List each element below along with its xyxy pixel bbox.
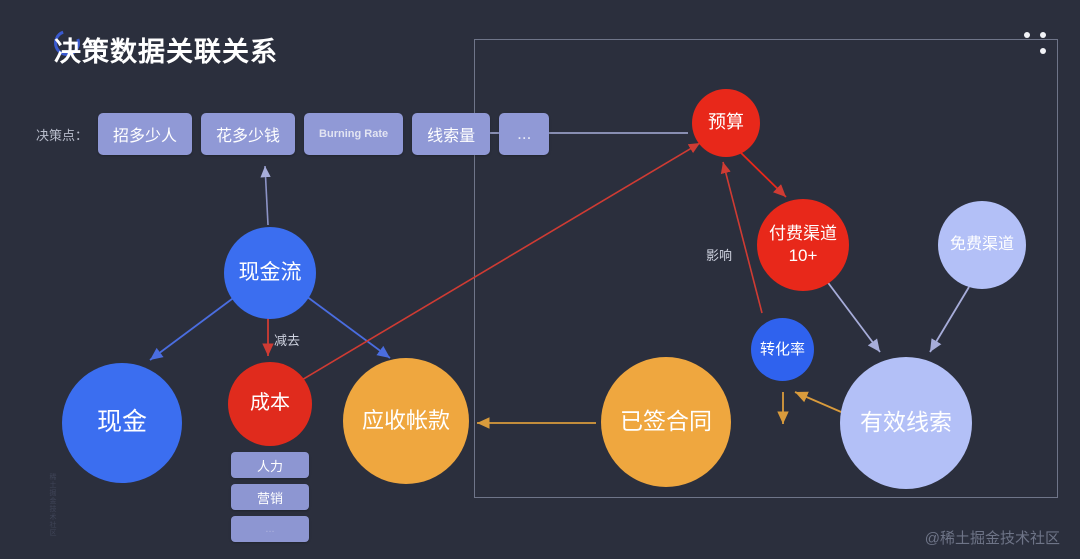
page-title: 决策数据关联关系 xyxy=(46,26,270,65)
decision-chip-burning-rate[interactable]: Burning Rate xyxy=(304,113,403,155)
decision-chip-spending[interactable]: 花多少钱 xyxy=(201,113,295,155)
node-receivable-label: 应收帐款 xyxy=(362,408,450,434)
page-title-text: 决策数据关联关系 xyxy=(54,37,278,67)
cost-chip-more[interactable]: ... xyxy=(231,516,309,542)
node-cashflow-label: 现金流 xyxy=(239,261,302,286)
node-cash[interactable]: 现金 xyxy=(62,363,182,483)
decision-points-row: 决策点： 招多少人 花多少钱 Burning Rate 线索量 ... xyxy=(36,113,549,155)
node-signed-contract-label: 已签合同 xyxy=(620,408,712,435)
node-cost-label: 成本 xyxy=(250,392,290,416)
cost-chip-marketing[interactable]: 营销 xyxy=(231,484,309,510)
cost-breakdown-list: 人力 营销 ... xyxy=(231,452,309,542)
node-receivable[interactable]: 应收帐款 xyxy=(343,358,469,484)
decision-points-label: 决策点： xyxy=(36,125,88,144)
node-paid-channel-label: 付费渠道 xyxy=(769,224,837,244)
node-valid-leads[interactable]: 有效线索 xyxy=(840,357,972,489)
cost-chip-manpower[interactable]: 人力 xyxy=(231,452,309,478)
edge-label-subtract: 减去 xyxy=(274,330,300,349)
node-free-channel-label: 免费渠道 xyxy=(950,236,1014,255)
decision-chip-lead-volume[interactable]: 线索量 xyxy=(412,113,490,155)
node-paid-channel-count: 10+ xyxy=(789,246,818,266)
node-valid-leads-label: 有效线索 xyxy=(860,409,952,436)
decision-chip-hiring[interactable]: 招多少人 xyxy=(98,113,192,155)
node-paid-channel[interactable]: 付费渠道 10+ xyxy=(757,199,849,291)
watermark: @稀土掘金技术社区 xyxy=(925,527,1060,548)
node-budget-label: 预算 xyxy=(708,112,744,133)
decision-chip-more[interactable]: ... xyxy=(499,113,549,155)
node-free-channel[interactable]: 免费渠道 xyxy=(938,201,1026,289)
node-budget[interactable]: 预算 xyxy=(692,89,760,157)
node-cost[interactable]: 成本 xyxy=(228,362,312,446)
menu-dots-icon[interactable] xyxy=(1024,24,1058,58)
node-conversion-rate[interactable]: 转化率 xyxy=(751,318,814,381)
edge-label-influence: 影响 xyxy=(706,245,732,264)
side-watermark: 稀土掘金技术社区 xyxy=(47,473,57,537)
node-signed-contract[interactable]: 已签合同 xyxy=(601,357,731,487)
node-cashflow[interactable]: 现金流 xyxy=(224,227,316,319)
node-conversion-rate-label: 转化率 xyxy=(760,341,805,359)
diagram-canvas: 决策数据关联关系 决策点： 招多少人 花多少钱 Burning Rate 线索量… xyxy=(0,0,1080,559)
node-cash-label: 现金 xyxy=(97,408,147,438)
